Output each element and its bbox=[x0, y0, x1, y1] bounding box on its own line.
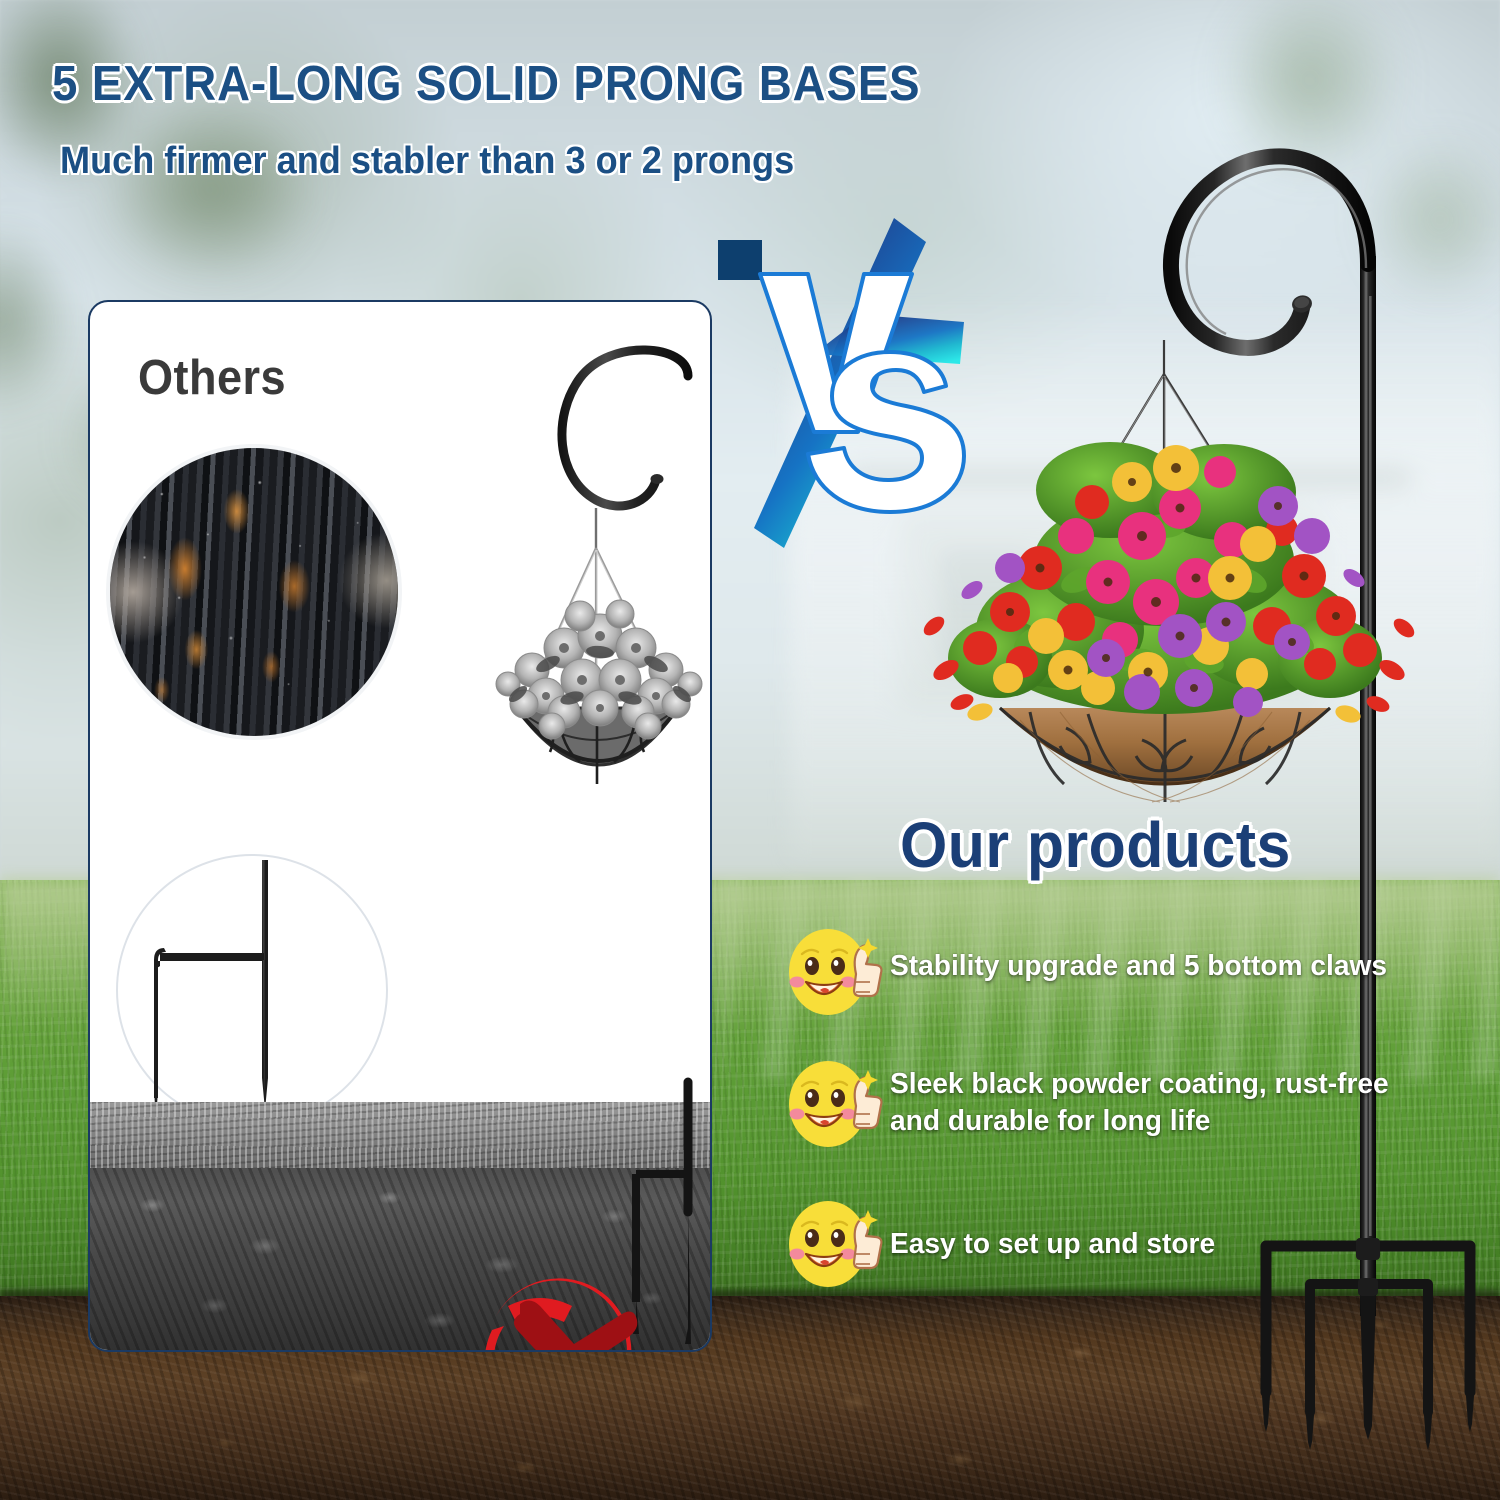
feature-item: Stability upgrade and 5 bottom claws bbox=[786, 924, 1446, 1020]
page-title: 5 EXTRA-LONG SOLID PRONG BASES bbox=[52, 56, 926, 112]
red-x-reject-icon bbox=[468, 1264, 658, 1352]
smiley-thumbs-up-icon bbox=[786, 1056, 882, 1152]
two-prong-stake-illustration bbox=[116, 848, 396, 1138]
feature-text: Stability upgrade and 5 bottom claws bbox=[890, 924, 1387, 985]
feature-list: Stability upgrade and 5 bottom claws Sle… bbox=[786, 924, 1446, 1328]
page-subtitle: Much firmer and stabler than 3 or 2 pron… bbox=[60, 140, 953, 183]
smiley-thumbs-up-icon bbox=[786, 1196, 882, 1292]
feature-item: Sleek black powder coating, rust-free an… bbox=[786, 1056, 1446, 1152]
feature-text: Sleek black powder coating, rust-free an… bbox=[890, 1056, 1389, 1139]
smiley-thumbs-up-icon bbox=[786, 924, 882, 1020]
our-hanging-flower-basket bbox=[880, 340, 1440, 840]
rusty-poles-inset-image bbox=[110, 448, 398, 736]
our-products-title: Our products bbox=[900, 808, 1291, 882]
feature-text: Easy to set up and store bbox=[890, 1196, 1215, 1263]
others-panel-title: Others bbox=[138, 350, 286, 406]
others-comparison-panel: Others bbox=[88, 300, 712, 1352]
feature-item: Easy to set up and store bbox=[786, 1196, 1446, 1292]
